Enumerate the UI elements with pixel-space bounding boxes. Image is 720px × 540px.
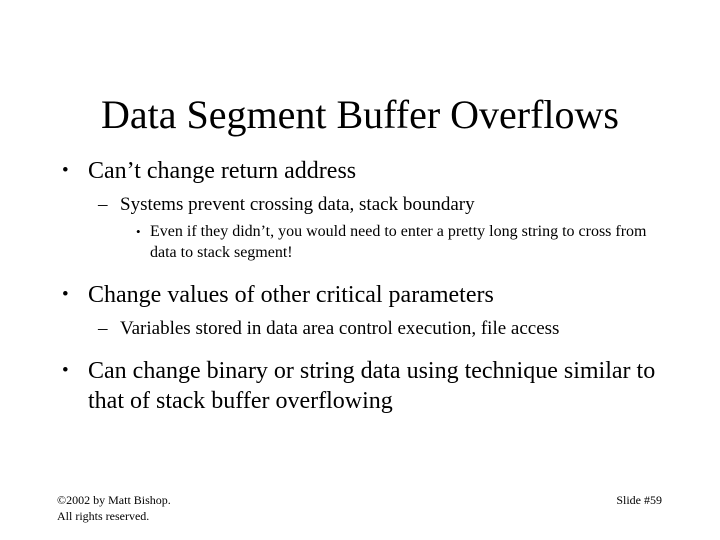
presentation-slide: Data Segment Buffer Overflows • Can’t ch… (0, 0, 720, 540)
bullet-dot-icon: • (62, 280, 69, 310)
spacer (56, 344, 656, 356)
copyright-notice: ©2002 by Matt Bishop. All rights reserve… (57, 492, 171, 524)
bullet-dash-icon: – (98, 316, 108, 342)
list-item-label: Even if they didn’t, you would need to e… (150, 221, 656, 263)
list-item-label: Variables stored in data area control ex… (120, 316, 656, 342)
list-item: – Variables stored in data area control … (56, 316, 656, 342)
bullet-dot-icon: • (62, 356, 69, 386)
list-item: • Can change binary or string data using… (56, 356, 656, 416)
slide-number: Slide #59 (616, 492, 662, 508)
copyright-line-2: All rights reserved. (57, 508, 171, 524)
list-item: • Change values of other critical parame… (56, 280, 656, 310)
copyright-line-1: ©2002 by Matt Bishop. (57, 492, 171, 508)
list-item-label: Can’t change return address (88, 156, 656, 186)
spacer (56, 266, 656, 280)
list-item: • Can’t change return address (56, 156, 656, 186)
bullet-dash-icon: – (98, 192, 108, 218)
list-item-label: Systems prevent crossing data, stack bou… (120, 192, 656, 218)
list-item: – Systems prevent crossing data, stack b… (56, 192, 656, 218)
bullet-dot-icon: • (62, 156, 69, 186)
list-item: • Even if they didn’t, you would need to… (56, 221, 656, 263)
list-item-label: Change values of other critical paramete… (88, 280, 656, 310)
slide-body-content: • Can’t change return address – Systems … (56, 156, 656, 422)
page-title: Data Segment Buffer Overflows (0, 91, 720, 139)
list-item-label: Can change binary or string data using t… (88, 356, 656, 416)
bullet-dot-icon: • (136, 221, 141, 242)
